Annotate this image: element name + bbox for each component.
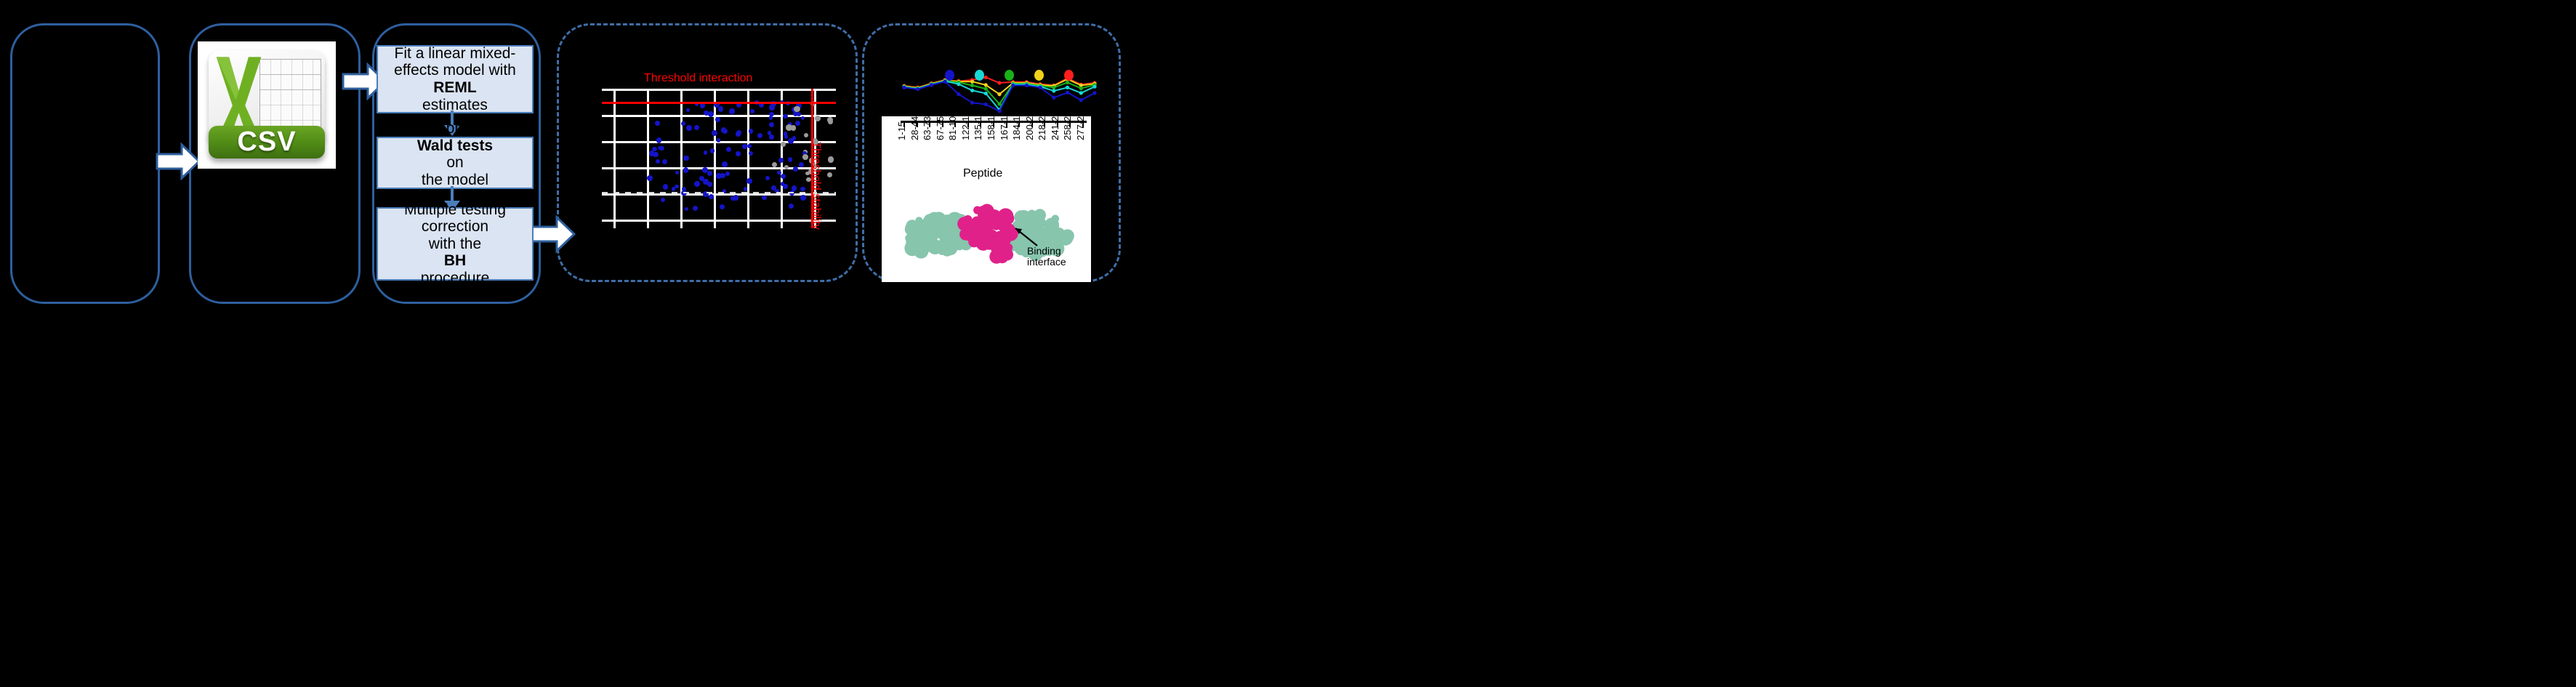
ligand-surface-blob bbox=[1005, 226, 1013, 233]
structure-figure-card[interactable]: 0.0 1-1528-4463-7367-7581-101122-129135-… bbox=[882, 116, 1091, 282]
line-point bbox=[916, 87, 919, 91]
binding-interface-label: Binding interface bbox=[1027, 246, 1066, 268]
csv-label: CSV bbox=[237, 126, 296, 158]
line-point bbox=[970, 89, 974, 92]
line-chart-legend bbox=[945, 70, 1090, 83]
scatter-point bbox=[784, 132, 788, 136]
line-point bbox=[984, 103, 988, 106]
legend-dot-series-yellow bbox=[1034, 70, 1044, 81]
ligand-surface-blob bbox=[968, 229, 983, 244]
legend-dot-series-green bbox=[1005, 70, 1014, 81]
scatter-point bbox=[800, 195, 806, 201]
scatter-vline bbox=[747, 89, 749, 228]
protein-surface-blob bbox=[935, 218, 943, 227]
step-multiple-testing-box[interactable]: Multiple testingcorrectionwith the BH pr… bbox=[377, 207, 534, 281]
y-axis-label-0: 0.0 bbox=[882, 116, 890, 118]
scatter-point bbox=[794, 106, 800, 112]
protein-surface-blob bbox=[1042, 229, 1057, 244]
scatter-hline bbox=[602, 89, 836, 91]
peptide-label: 28-44 bbox=[909, 116, 920, 140]
scatter-hline bbox=[602, 167, 836, 169]
protein-surface-blob bbox=[919, 218, 935, 233]
line-point bbox=[970, 84, 974, 87]
scatter-point bbox=[682, 187, 686, 191]
binding-label-line1: Binding bbox=[1027, 246, 1066, 257]
scatter-point bbox=[703, 179, 708, 184]
scatter-point bbox=[744, 187, 747, 190]
scatter-point bbox=[789, 204, 794, 209]
protein-surface-blob bbox=[909, 224, 918, 233]
threshold-interaction-line bbox=[602, 102, 836, 104]
scatter-point bbox=[792, 136, 796, 140]
threshold-interaction-label: Threshold interaction bbox=[644, 72, 752, 85]
line-point bbox=[930, 83, 933, 87]
binding-label-line2: interface bbox=[1027, 257, 1066, 268]
peptide-label: 167-180 bbox=[999, 116, 1010, 140]
scatter-point bbox=[800, 187, 805, 191]
peptide-label: 67-75 bbox=[935, 116, 946, 140]
scatter-point bbox=[802, 154, 808, 160]
line-point bbox=[1052, 86, 1055, 89]
line-point bbox=[1052, 96, 1055, 100]
peptide-label: 184-199 bbox=[1011, 116, 1022, 140]
arrow-source-to-csv bbox=[156, 142, 201, 180]
arrow-stats-to-results bbox=[531, 215, 576, 253]
ligand-surface-blob bbox=[985, 215, 999, 230]
scatter-point bbox=[781, 174, 786, 179]
scatter-point bbox=[725, 172, 730, 176]
peptide-label: 122-129 bbox=[960, 116, 971, 140]
scatter-point bbox=[729, 108, 734, 113]
scatter-point bbox=[777, 171, 781, 175]
protein-surface-blob bbox=[935, 243, 944, 252]
scatter-point bbox=[730, 196, 735, 201]
scatter-point bbox=[786, 124, 792, 131]
scatter-point bbox=[781, 142, 786, 147]
line-point bbox=[1039, 86, 1042, 89]
scatter-point bbox=[685, 207, 688, 211]
peptide-label: 158-166 bbox=[986, 116, 997, 140]
csv-label-band: CSV bbox=[209, 126, 325, 159]
line-point bbox=[997, 92, 1001, 96]
scatter-point bbox=[746, 178, 752, 184]
peptide-label: 1-15 bbox=[896, 121, 907, 140]
scatter-point bbox=[781, 182, 785, 186]
scatter-point bbox=[828, 156, 834, 162]
line-point bbox=[902, 86, 906, 89]
line-point bbox=[1092, 91, 1096, 95]
line-point bbox=[1052, 89, 1055, 92]
step-fit-model-box[interactable]: Fit a linear mixed-effects model withREM… bbox=[377, 45, 534, 113]
scatter-point bbox=[772, 162, 777, 167]
ligand-surface-blob bbox=[993, 241, 1004, 252]
scatter-vline bbox=[680, 89, 683, 228]
peptide-label: 218-237 bbox=[1037, 116, 1047, 140]
peptide-label: 200-214 bbox=[1024, 116, 1035, 140]
line-point bbox=[1011, 84, 1015, 87]
line-point bbox=[1079, 91, 1083, 95]
peptide-label: 81-101 bbox=[947, 116, 958, 140]
scatter-point bbox=[675, 185, 678, 188]
scatter-point bbox=[771, 185, 776, 190]
line-point bbox=[984, 92, 988, 95]
line-point bbox=[1079, 98, 1083, 102]
peptide-axis-title: Peptide bbox=[963, 167, 1002, 180]
step-wald-tests-box[interactable]: Apply Wald tests onthe model parameters bbox=[377, 137, 534, 189]
scatter-point bbox=[749, 129, 753, 133]
legend-dot-series-blue bbox=[945, 70, 954, 81]
scatter-point bbox=[708, 111, 714, 117]
scatter-point bbox=[672, 187, 675, 190]
peptide-label: 63-73 bbox=[922, 116, 933, 140]
line-point bbox=[997, 102, 1001, 105]
line-point bbox=[984, 87, 988, 91]
scatter-point bbox=[663, 184, 668, 189]
scatter-vline bbox=[714, 89, 716, 228]
step-multiple-testing-text: Multiple testingcorrectionwith the BH pr… bbox=[395, 201, 515, 287]
scatter-point bbox=[704, 150, 707, 154]
protein-surface-blob bbox=[1051, 215, 1059, 223]
scatter-point bbox=[704, 111, 708, 115]
line-point bbox=[1079, 87, 1083, 90]
scatter-point bbox=[792, 185, 797, 190]
peptide-label: 258-266 bbox=[1062, 116, 1073, 140]
line-point bbox=[1066, 86, 1069, 89]
scatter-point bbox=[783, 114, 787, 118]
scatter-point bbox=[694, 181, 700, 187]
scatter-point bbox=[710, 148, 715, 153]
scatter-point bbox=[736, 151, 740, 156]
scatter-point bbox=[750, 109, 754, 113]
line-point bbox=[984, 83, 988, 87]
scatter-point bbox=[656, 159, 660, 164]
step-wald-tests-text: Apply Wald tests onthe model parameters bbox=[378, 120, 532, 206]
scatter-point bbox=[723, 129, 728, 134]
scatter-point bbox=[742, 144, 746, 148]
scatter-point bbox=[801, 116, 805, 120]
peptide-label: 241-257 bbox=[1050, 116, 1060, 140]
scatter-point bbox=[707, 171, 712, 176]
scatter-point bbox=[686, 125, 692, 131]
scatter-point bbox=[736, 132, 741, 137]
scatter-point bbox=[769, 116, 773, 119]
scatter-point bbox=[788, 157, 792, 161]
scatter-hline bbox=[602, 220, 836, 222]
peptide-label: 277-284 bbox=[1075, 116, 1086, 140]
scatter-plot[interactable] bbox=[602, 89, 836, 228]
line-point bbox=[970, 101, 974, 105]
scatter-point bbox=[778, 158, 784, 163]
line-point bbox=[1066, 91, 1069, 95]
scatter-point bbox=[709, 194, 714, 199]
protein-surface-blob bbox=[1016, 237, 1026, 247]
panel-data-source[interactable] bbox=[10, 23, 160, 304]
scatter-point bbox=[656, 137, 661, 142]
protein-surface-blob bbox=[904, 241, 920, 257]
legend-dot-series-red bbox=[1064, 70, 1074, 81]
step-fit-model-text: Fit a linear mixed-effects model withREM… bbox=[385, 45, 525, 113]
peptide-label: 135-144 bbox=[973, 116, 983, 140]
scatter-point bbox=[683, 167, 688, 172]
scatter-vline bbox=[613, 89, 616, 228]
line-point bbox=[1025, 84, 1029, 87]
legend-dot-series-cyan bbox=[975, 70, 984, 81]
scatter-dashed-line bbox=[602, 192, 836, 193]
scatter-point bbox=[762, 196, 767, 201]
scatter-point bbox=[712, 130, 717, 136]
line-point bbox=[997, 109, 1001, 113]
threshold-stability-label: Threshold stability bbox=[810, 142, 823, 230]
scatter-point bbox=[769, 105, 774, 110]
scatter-vline bbox=[647, 89, 649, 228]
line-point bbox=[1092, 85, 1096, 89]
scatter-point bbox=[647, 175, 653, 181]
scatter-point bbox=[768, 131, 771, 134]
csv-spreadsheet-icon[interactable]: CSV bbox=[198, 41, 336, 169]
scatter-point bbox=[694, 125, 699, 130]
line-point bbox=[957, 92, 960, 96]
protein-surface-blob bbox=[1027, 209, 1036, 218]
